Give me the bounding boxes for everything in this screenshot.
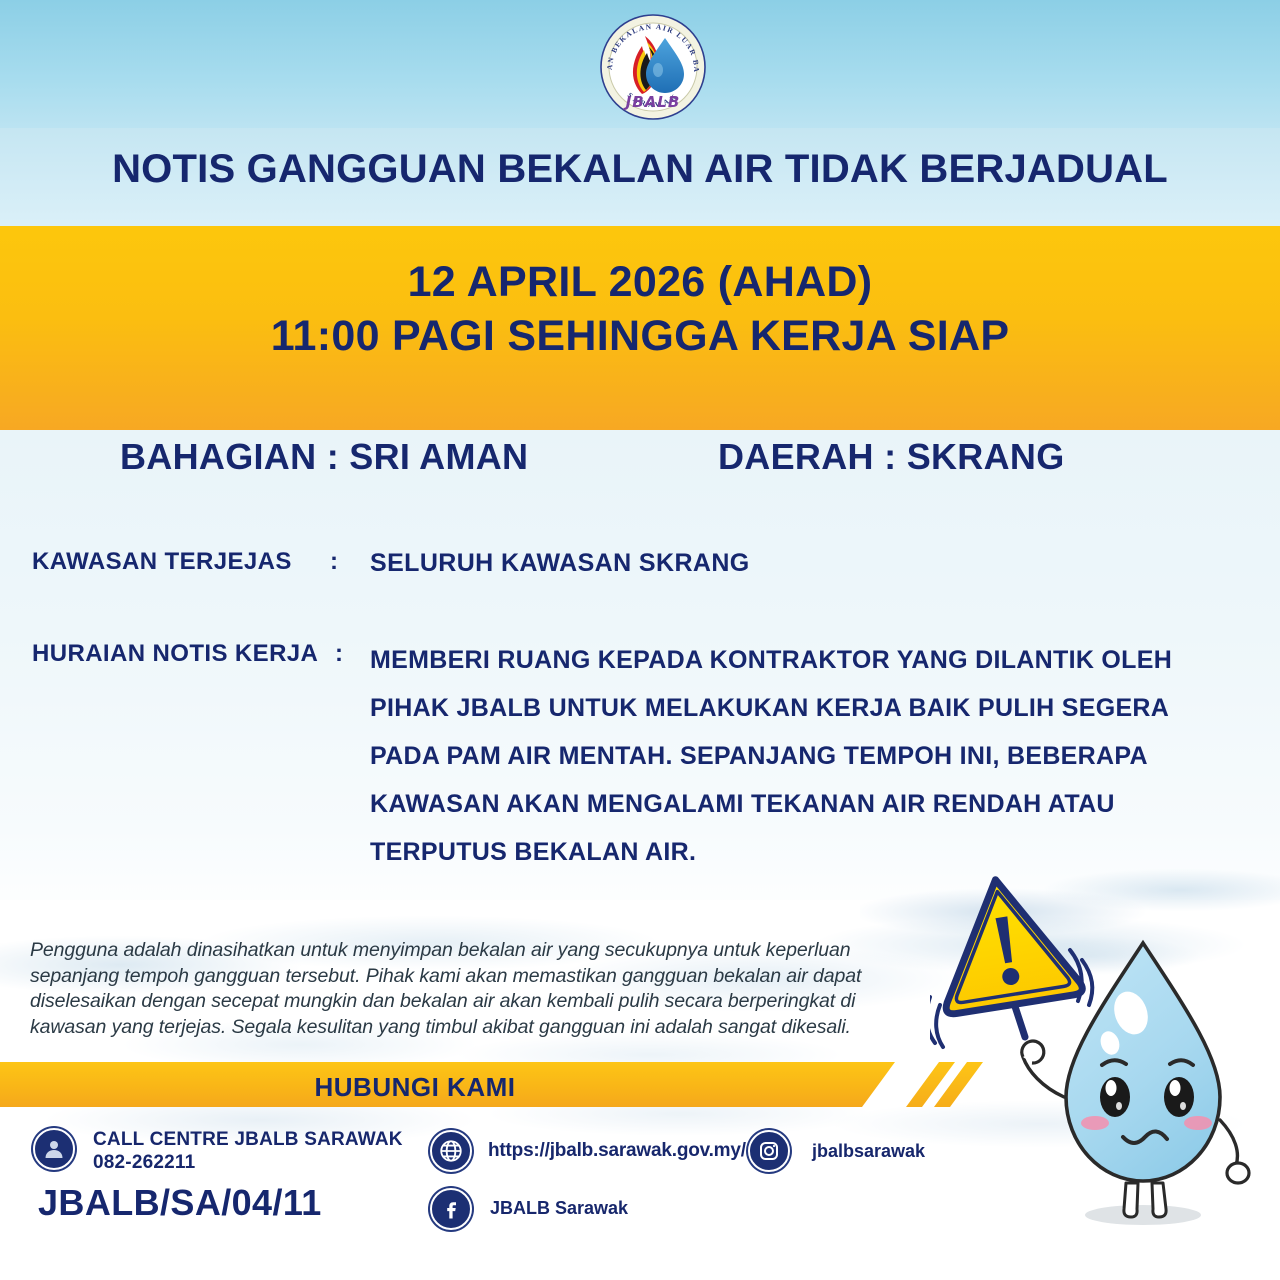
region-row: BAHAGIAN : SRI AMAN DAERAH : SKRANG [0, 436, 1280, 484]
work-description-line: KAWASAN AKAN MENGALAMI TEKANAN AIR RENDA… [370, 780, 1170, 828]
call-centre-name: CALL CENTRE JBALB SARAWAK [93, 1129, 403, 1151]
advisory-text: Pengguna adalah dinasihatkan untuk menyi… [30, 938, 910, 1040]
instagram-handle[interactable]: jbalbsarawak [812, 1141, 925, 1162]
person-icon[interactable] [33, 1128, 75, 1170]
contact-banner-title: HUBUNGI KAMI [0, 1072, 830, 1103]
svg-text:JBALB: JBALB [623, 93, 681, 111]
jbalb-logo: JABATAN BEKALAN AIR LUAR BANDAR SARAWAK … [598, 12, 708, 122]
website-url[interactable]: https://jbalb.sarawak.gov.my/ [488, 1140, 746, 1162]
work-description-label: HURAIAN NOTIS KERJA [32, 640, 318, 668]
work-description-line: PIHAK JBALB UNTUK MELAKUKAN KERJA BAIK P… [370, 684, 1170, 732]
daerah-label: DAERAH : SKRANG [718, 436, 1065, 478]
notice-time: 11:00 PAGI SEHINGGA KERJA SIAP [0, 312, 1280, 361]
facebook-handle[interactable]: JBALB Sarawak [490, 1198, 628, 1219]
work-description-body: MEMBERI RUANG KEPADA KONTRAKTOR YANG DIL… [370, 636, 1170, 876]
affected-area-colon: : [330, 548, 338, 576]
affected-area-value: SELURUH KAWASAN SKRANG [370, 549, 750, 578]
affected-area-label: KAWASAN TERJEJAS [32, 548, 292, 576]
globe-icon[interactable] [430, 1130, 472, 1172]
reference-number: JBALB/SA/04/11 [38, 1182, 322, 1224]
bahagian-label: BAHAGIAN : SRI AMAN [120, 436, 528, 478]
notice-date: 12 APRIL 2026 (AHAD) [0, 258, 1280, 307]
facebook-icon[interactable] [430, 1188, 472, 1230]
work-description-line: MEMBERI RUANG KEPADA KONTRAKTOR YANG DIL… [370, 636, 1170, 684]
work-description-line: PADA PAM AIR MENTAH. SEPANJANG TEMPOH IN… [370, 732, 1170, 780]
call-centre-number[interactable]: 082-262211 [93, 1152, 195, 1174]
water-droplet-mascot [930, 865, 1280, 1280]
work-description-colon: : [335, 640, 343, 668]
water-disruption-notice-poster: JABATAN BEKALAN AIR LUAR BANDAR SARAWAK … [0, 0, 1280, 1280]
page-title: NOTIS GANGGUAN BEKALAN AIR TIDAK BERJADU… [0, 147, 1280, 192]
instagram-icon[interactable] [748, 1130, 790, 1172]
